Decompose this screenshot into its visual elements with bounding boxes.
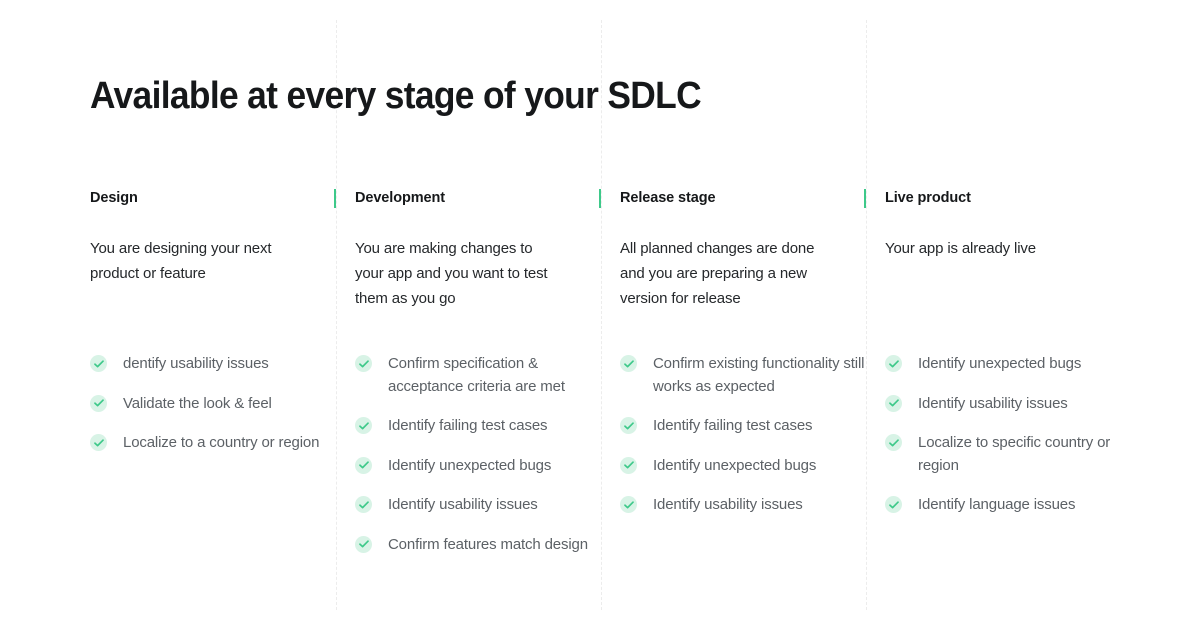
list-item: dentify usability issues <box>90 353 340 376</box>
stage-title: Live product <box>885 188 1135 208</box>
stage-column-release: Release stage All planned changes are do… <box>620 188 870 311</box>
sdlc-stages-infographic: Available at every stage of your SDLC De… <box>0 0 1200 630</box>
stage-column-live-product: Live product Your app is already live Id… <box>885 188 1135 261</box>
check-icon <box>90 355 107 372</box>
stage-checklist: Identify unexpected bugs Identify usabil… <box>885 353 1135 534</box>
list-item-label: Identify usability issues <box>388 496 538 513</box>
stage-description: Your app is already live <box>885 236 1095 261</box>
accent-bar <box>864 189 866 208</box>
list-item-label: Identify unexpected bugs <box>388 457 551 474</box>
stage-description: You are making changes to your app and y… <box>355 236 565 311</box>
check-icon <box>885 434 902 451</box>
list-item: Identify unexpected bugs <box>355 455 605 478</box>
list-item-label: Confirm existing functionality still wor… <box>653 355 864 395</box>
check-icon <box>355 355 372 372</box>
list-item: Validate the look & feel <box>90 393 340 416</box>
check-icon <box>620 355 637 372</box>
stage-checklist: Confirm existing functionality still wor… <box>620 353 870 534</box>
check-icon <box>885 395 902 412</box>
check-icon <box>355 536 372 553</box>
check-icon <box>620 457 637 474</box>
list-item: Identify unexpected bugs <box>620 455 870 478</box>
check-icon <box>355 457 372 474</box>
check-icon <box>620 496 637 513</box>
list-item-label: Identify failing test cases <box>653 417 812 434</box>
stage-title: Design <box>90 188 340 208</box>
stage-column-development: Development You are making changes to yo… <box>355 188 605 311</box>
list-item: Confirm features match design <box>355 534 605 557</box>
stage-header: Release stage <box>620 188 870 210</box>
list-item: Identify usability issues <box>885 393 1135 416</box>
check-icon <box>885 496 902 513</box>
check-icon <box>355 496 372 513</box>
list-item-label: Identify unexpected bugs <box>918 355 1081 372</box>
list-item: Confirm existing functionality still wor… <box>620 353 870 398</box>
list-item: Confirm specification & acceptance crite… <box>355 353 605 398</box>
list-item-label: dentify usability issues <box>123 355 269 372</box>
list-item-label: Confirm features match design <box>388 536 588 553</box>
accent-bar <box>334 189 336 208</box>
list-item: Identify language issues <box>885 494 1135 517</box>
list-item: Identify usability issues <box>620 494 870 517</box>
list-item: Localize to specific country or region <box>885 432 1135 477</box>
check-icon <box>355 417 372 434</box>
list-item: Identify failing test cases <box>620 415 870 438</box>
accent-bar <box>599 189 601 208</box>
stage-title: Release stage <box>620 188 870 208</box>
stage-columns: Design You are designing your next produ… <box>0 188 1200 618</box>
list-item-label: Localize to a country or region <box>123 434 319 451</box>
list-item-label: Validate the look & feel <box>123 395 272 412</box>
stage-title: Development <box>355 188 605 208</box>
list-item-label: Identify unexpected bugs <box>653 457 816 474</box>
list-item-label: Identify failing test cases <box>388 417 547 434</box>
stage-checklist: dentify usability issues Validate the lo… <box>90 353 340 472</box>
stage-column-design: Design You are designing your next produ… <box>90 188 340 286</box>
stage-description: All planned changes are done and you are… <box>620 236 830 311</box>
check-icon <box>90 395 107 412</box>
stage-header: Development <box>355 188 605 210</box>
stage-checklist: Confirm specification & acceptance crite… <box>355 353 605 573</box>
page-title: Available at every stage of your SDLC <box>90 73 701 119</box>
list-item: Identify unexpected bugs <box>885 353 1135 376</box>
list-item-label: Identify usability issues <box>653 496 803 513</box>
stage-header: Live product <box>885 188 1135 210</box>
list-item: Identify usability issues <box>355 494 605 517</box>
list-item: Localize to a country or region <box>90 432 340 455</box>
list-item-label: Confirm specification & acceptance crite… <box>388 355 565 395</box>
list-item: Identify failing test cases <box>355 415 605 438</box>
list-item-label: Localize to specific country or region <box>918 434 1110 474</box>
stage-description: You are designing your next product or f… <box>90 236 300 286</box>
check-icon <box>90 434 107 451</box>
check-icon <box>620 417 637 434</box>
stage-header: Design <box>90 188 340 210</box>
list-item-label: Identify usability issues <box>918 395 1068 412</box>
check-icon <box>885 355 902 372</box>
list-item-label: Identify language issues <box>918 496 1075 513</box>
